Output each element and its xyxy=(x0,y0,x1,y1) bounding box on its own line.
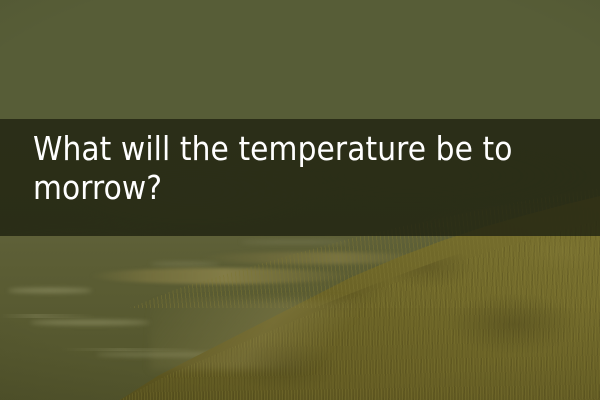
image-caption-card: What will the temperature be to morrow? xyxy=(0,0,600,400)
caption-text: What will the temperature be to morrow? xyxy=(33,129,582,207)
